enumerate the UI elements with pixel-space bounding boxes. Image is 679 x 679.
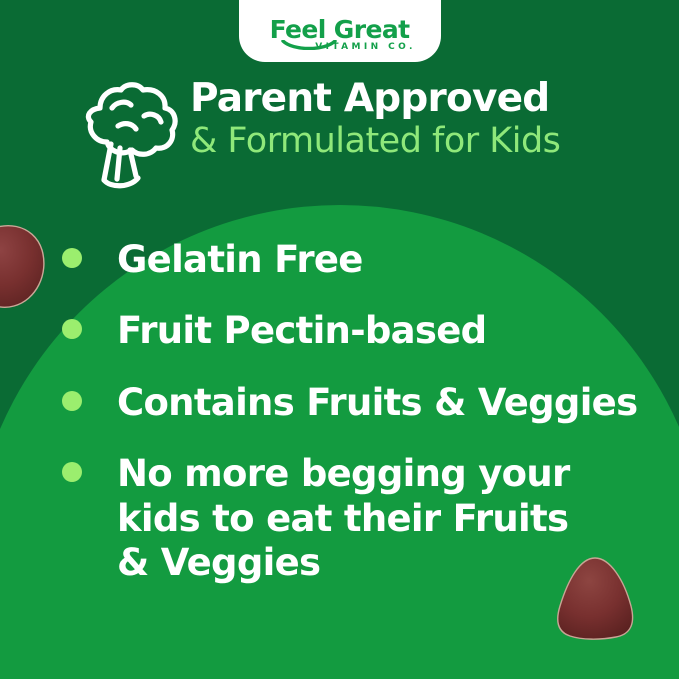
page-title: Parent Approved	[190, 78, 660, 119]
list-item-label: No more begging your kids to eat their F…	[117, 452, 570, 585]
brand-tagline: VITAMIN CO.	[315, 43, 416, 52]
list-item-label: Contains Fruits & Veggies	[117, 381, 637, 425]
headline-wrap: Parent Approved & Formulated for Kids	[190, 78, 660, 162]
list-item-label: Fruit Pectin-based	[117, 309, 486, 353]
bullet-dot-icon	[62, 319, 82, 339]
list-item: No more begging your kids to eat their F…	[0, 452, 679, 585]
list-item-label: Gelatin Free	[117, 238, 363, 282]
benefits-list: Gelatin Free Fruit Pectin-based Contains…	[0, 238, 679, 612]
bullet-dot-icon	[62, 391, 82, 411]
promo-infographic: Feel Great VITAMIN CO. Parent Approved &…	[0, 0, 679, 679]
list-item: Fruit Pectin-based	[0, 309, 679, 353]
list-item: Gelatin Free	[0, 238, 679, 282]
header-block: Parent Approved & Formulated for Kids	[0, 78, 679, 190]
brand-wordmark: Feel Great	[270, 17, 410, 42]
brand-logo-badge: Feel Great VITAMIN CO.	[239, 0, 441, 62]
page-subtitle: & Formulated for Kids	[190, 122, 660, 161]
broccoli-icon	[68, 82, 184, 190]
bullet-dot-icon	[62, 462, 82, 482]
list-item: Contains Fruits & Veggies	[0, 381, 679, 425]
bullet-dot-icon	[62, 248, 82, 268]
